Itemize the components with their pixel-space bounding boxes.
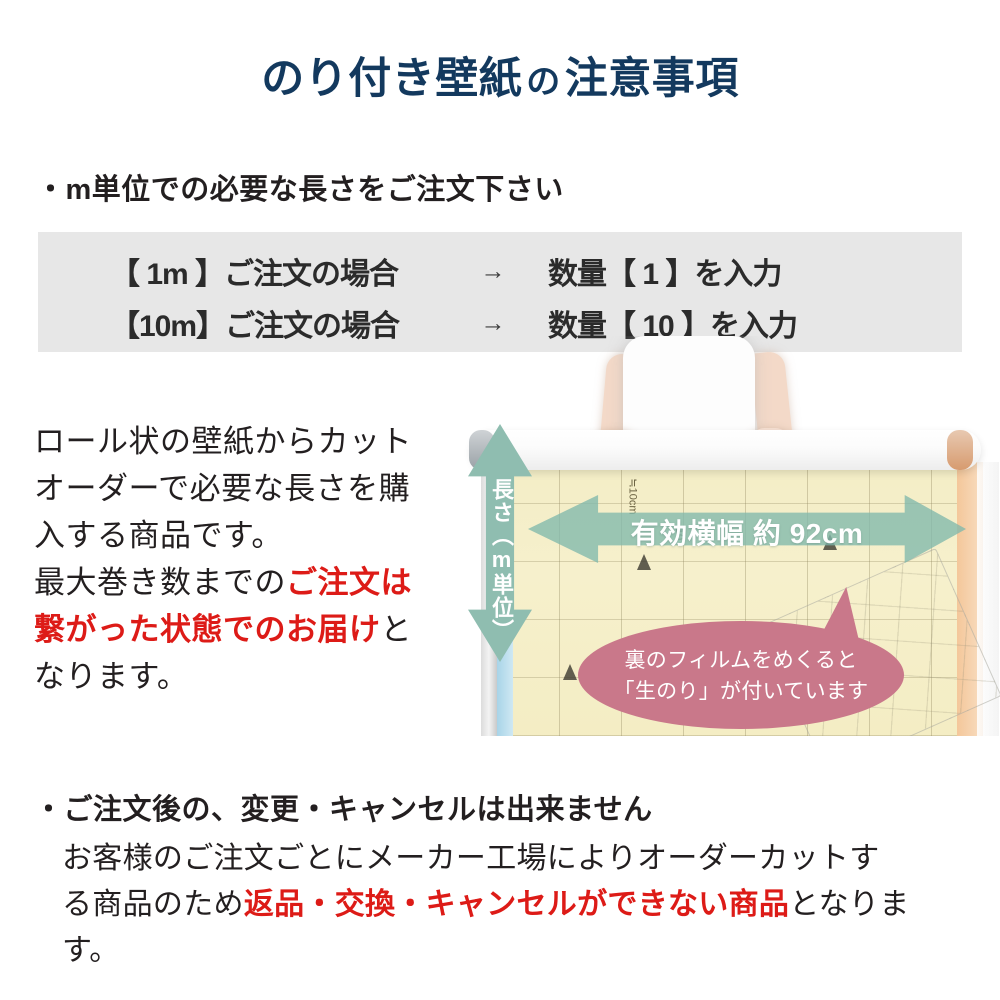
page-title-main: のり付き壁紙 (261, 55, 522, 103)
wallpaper-roll-cap-right (947, 430, 973, 470)
page-title-suffix: 注意事項 (565, 55, 739, 103)
wallpaper-scale-note: ≒10cm (627, 478, 640, 514)
callout-line-2: 「生のり」が付いています (614, 680, 869, 703)
description-line-6: なります。 (34, 659, 188, 694)
arrow-right-icon: → (438, 309, 548, 338)
width-arrow-label: 有効横幅 約 92cm (528, 512, 966, 552)
product-description: ロール状の壁紙からカット オーダーで必要な長さを購 入する商品です。 最大巻き数… (34, 418, 464, 700)
cancel-policy-bullet: ・ご注文後の、変更・キャンセルは出来ません (34, 786, 653, 828)
description-line-5-highlight: 繋がった状態でのお届け (34, 612, 381, 647)
description-line-3: 入する商品です。 (34, 518, 283, 553)
arrow-right-icon: → (438, 257, 548, 286)
order-example-box: 【 1m 】ご注文の場合 → 数量【 1 】を入力 【10m】ご注文の場合 → … (38, 232, 962, 352)
order-unit-bullet: ・m単位での必要な長さをご注文下さい (36, 166, 564, 208)
cancel-body-part-3: となりま (789, 888, 909, 921)
page-root: のり付き壁紙の注意事項 ・m単位での必要な長さをご注文下さい 【 1m 】ご注文… (0, 0, 1000, 1000)
cancel-body-highlight: 返品・交換・キャンセルができない商品 (244, 888, 789, 921)
order-example-order-label: 【10m】ご注文の場合 (38, 301, 438, 345)
description-line-5-plain: と (381, 612, 413, 647)
description-line-4-plain: 最大巻き数までの (34, 565, 286, 600)
cancel-body-part-1: お客様のご注文ごとにメーカー工場によりオーダーカットす (62, 842, 880, 875)
cancel-policy-body: お客様のご注文ごとにメーカー工場によりオーダーカットす る商品のため返品・交換・… (62, 836, 982, 974)
description-line-4-highlight: ご注文は (286, 565, 412, 600)
length-arrow-label: 長さ（m単位） (481, 478, 521, 642)
description-line-2: オーダーで必要な長さを購 (34, 471, 410, 506)
page-title-connector: の (522, 63, 565, 101)
order-example-order-label: 【 1m 】ご注文の場合 (38, 249, 438, 293)
cancel-body-part-2: る商品のため (62, 888, 244, 921)
description-line-1: ロール状の壁紙からカット (34, 424, 412, 459)
cancel-body-part-4: す。 (62, 934, 120, 967)
wallpaper-roll-tube (471, 430, 981, 470)
order-example-row: 【 1m 】ご注文の場合 → 数量【 1 】を入力 (38, 246, 962, 296)
order-example-quantity-label: 数量【 1 】を入力 (548, 249, 962, 293)
callout-bubble-text: 裏のフィルムをめくると 「生のり」が付いています (578, 645, 904, 707)
person-torso (623, 336, 755, 441)
callout-line-1: 裏のフィルムをめくると (624, 649, 857, 672)
page-title: のり付き壁紙の注意事項 (0, 44, 1000, 106)
